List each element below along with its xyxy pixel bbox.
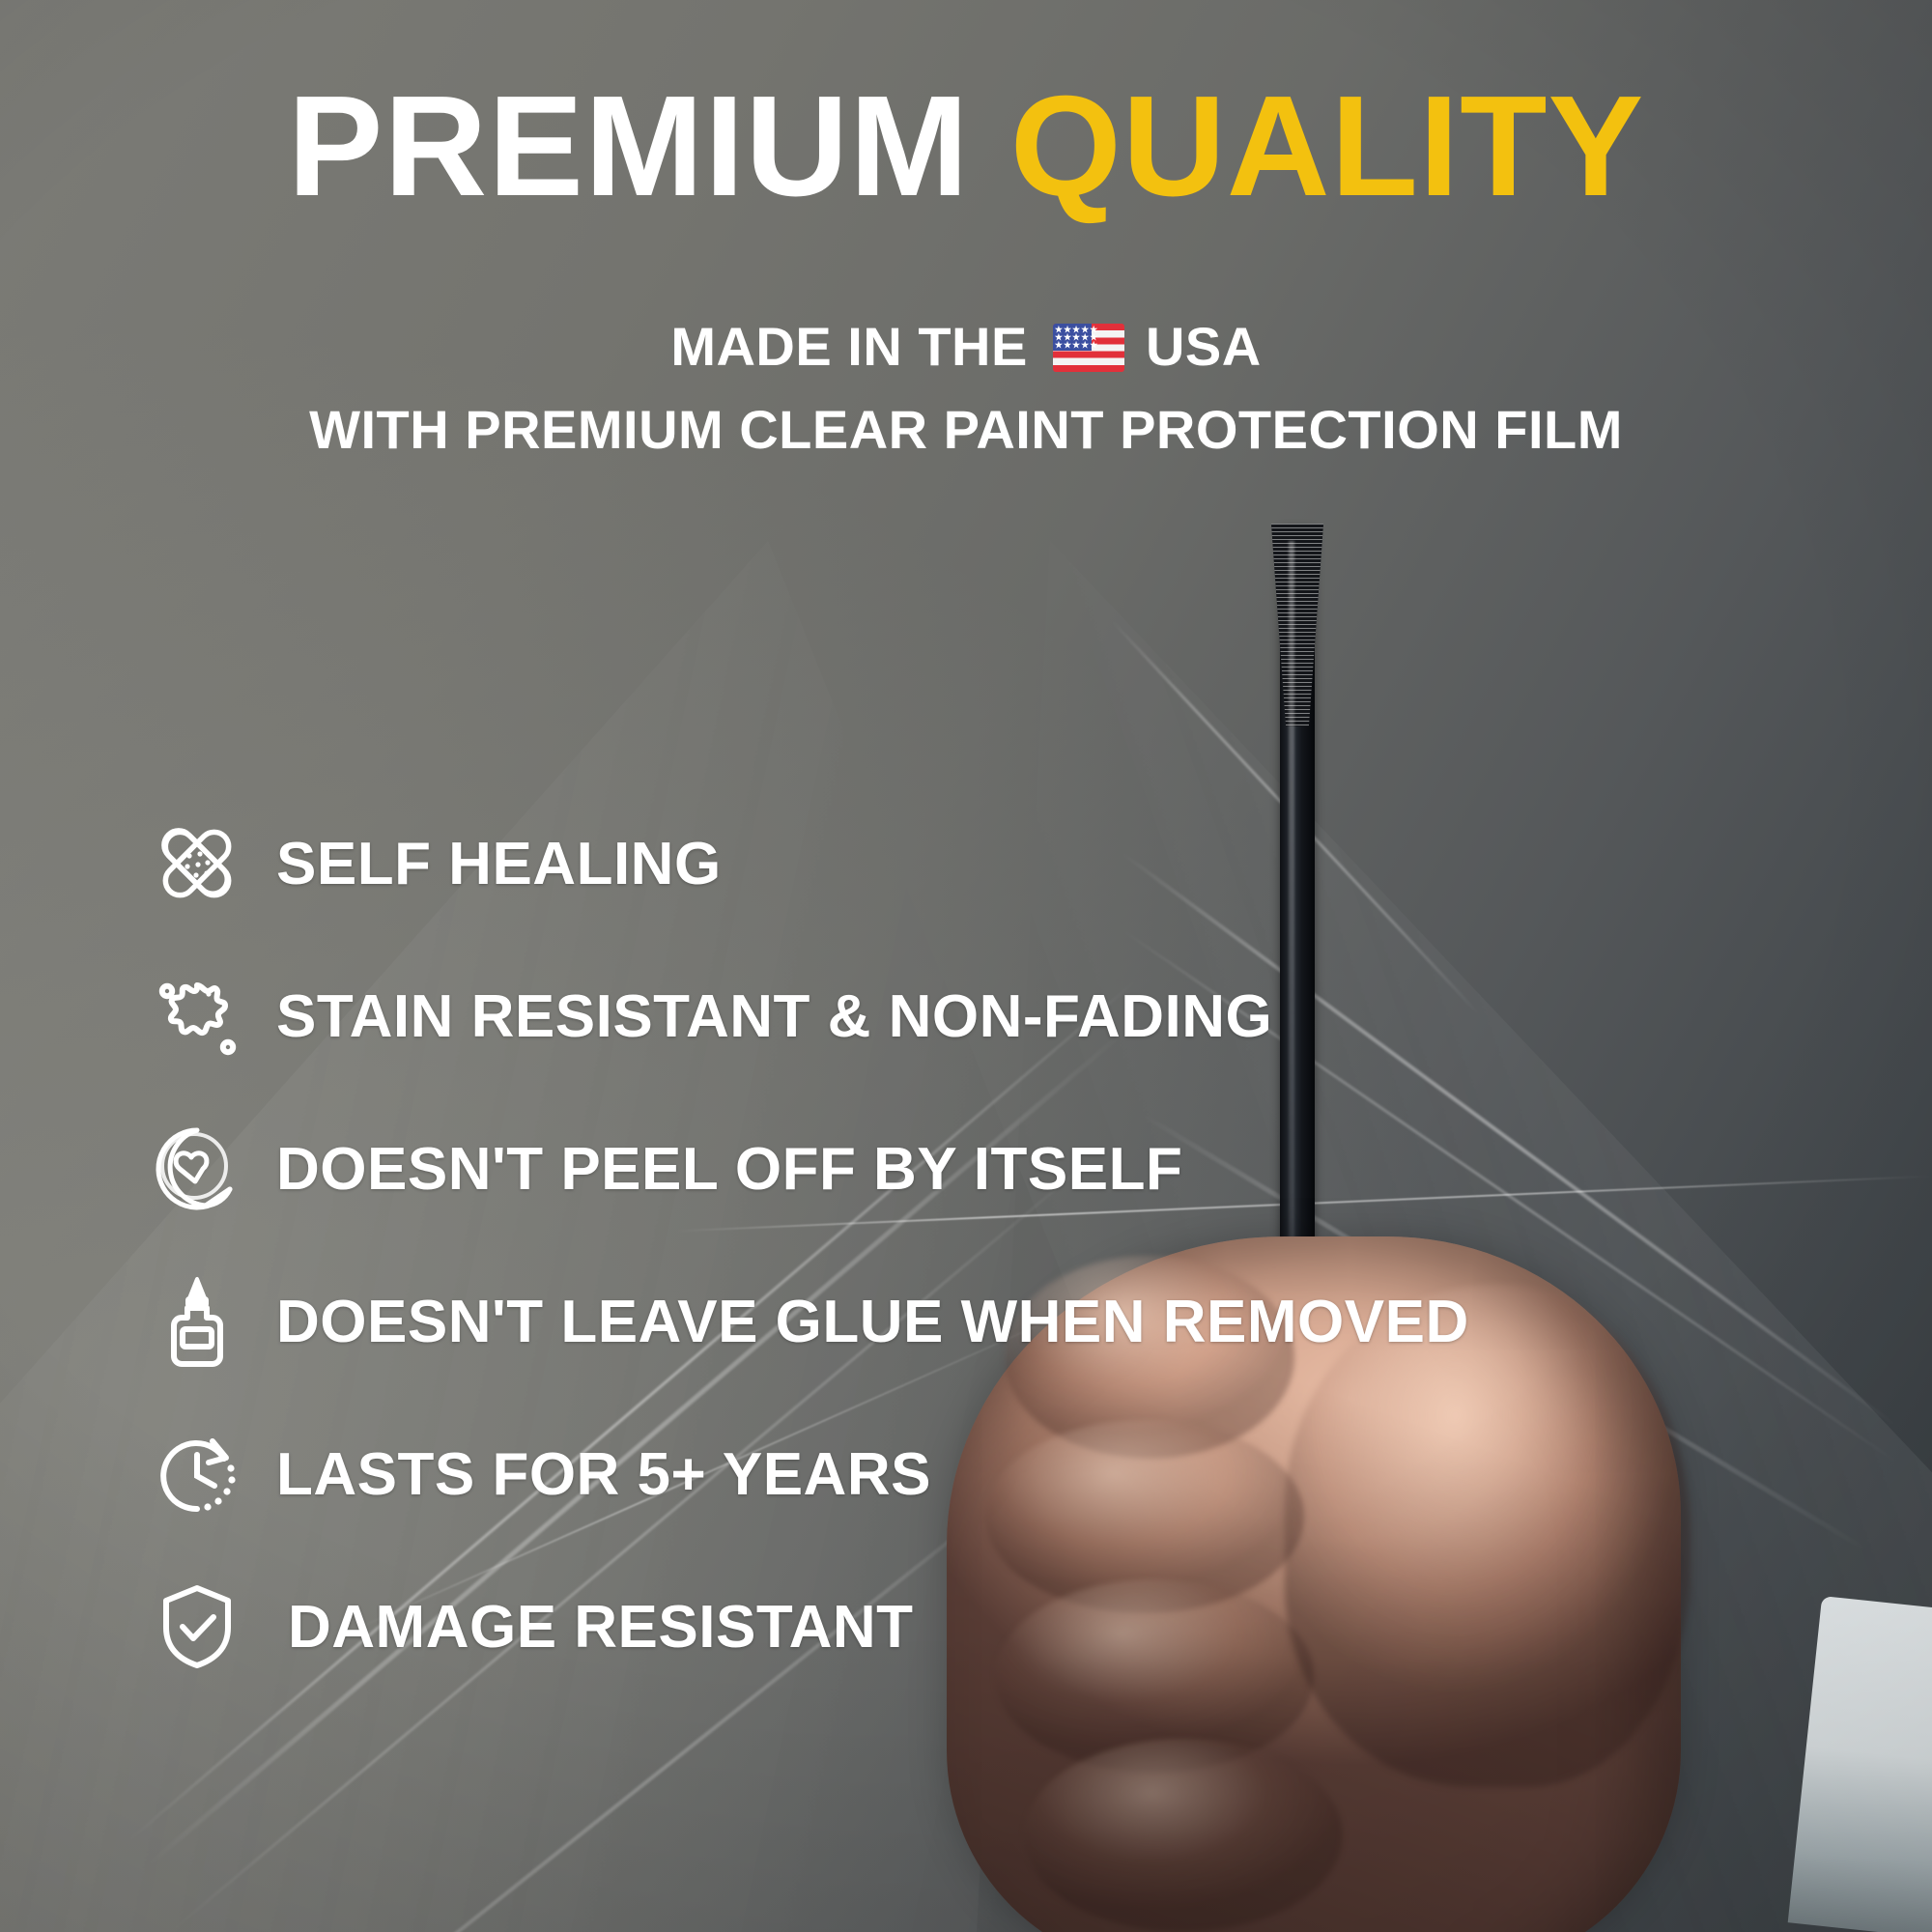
title-word-premium: PREMIUM <box>288 67 970 226</box>
feature-item-self-healing: SELF HEALING <box>145 787 1806 940</box>
bandage-cross-icon <box>145 811 249 916</box>
subtitle-usa: USA <box>1146 316 1262 377</box>
clock-rotate-icon <box>145 1422 249 1526</box>
feature-label: STAIN RESISTANT & NON-FADING <box>276 982 1272 1051</box>
feature-item-stain-resistant: STAIN RESISTANT & NON-FADING <box>145 940 1806 1093</box>
us-flag-icon: ★★★★★★★★★★★★★★★ <box>1053 324 1124 372</box>
feature-item-lasts-5-years: LASTS FOR 5+ YEARS <box>145 1398 1806 1550</box>
peeling-sticker-heart-icon <box>145 1117 249 1221</box>
feature-item-damage-resistant: DAMAGE RESISTANT <box>145 1550 1806 1703</box>
glue-bottle-icon <box>145 1269 249 1374</box>
shield-check-icon <box>145 1575 249 1679</box>
infographic-canvas: PREMIUM QUALITY MADE IN THE ★★★★★★★★★★★★… <box>0 0 1932 1932</box>
subtitle-line-2: WITH PREMIUM CLEAR PAINT PROTECTION FILM <box>0 398 1932 461</box>
subtitle-line-1: MADE IN THE ★★★★★★★★★★★★★★★ USA <box>0 315 1932 378</box>
page-title: PREMIUM QUALITY <box>0 75 1932 218</box>
subtitle-made-in-the: MADE IN THE <box>670 316 1028 377</box>
title-word-quality: QUALITY <box>1010 67 1645 226</box>
flag-stars: ★★★★★★★★★★★★★★★ <box>1055 326 1090 349</box>
feature-label: SELF HEALING <box>276 830 722 898</box>
feature-label: DAMAGE RESISTANT <box>288 1593 914 1662</box>
stain-splat-icon <box>145 964 249 1068</box>
feature-item-no-peel: DOESN'T PEEL OFF BY ITSELF <box>145 1093 1806 1245</box>
feature-list: SELF HEALING STAIN RESISTANT & NON-FADIN… <box>145 787 1806 1703</box>
feature-item-no-glue: DOESN'T LEAVE GLUE WHEN REMOVED <box>145 1245 1806 1398</box>
feature-label: DOESN'T PEEL OFF BY ITSELF <box>276 1135 1182 1204</box>
feature-label: LASTS FOR 5+ YEARS <box>276 1440 931 1509</box>
feature-label: DOESN'T LEAVE GLUE WHEN REMOVED <box>276 1288 1469 1356</box>
